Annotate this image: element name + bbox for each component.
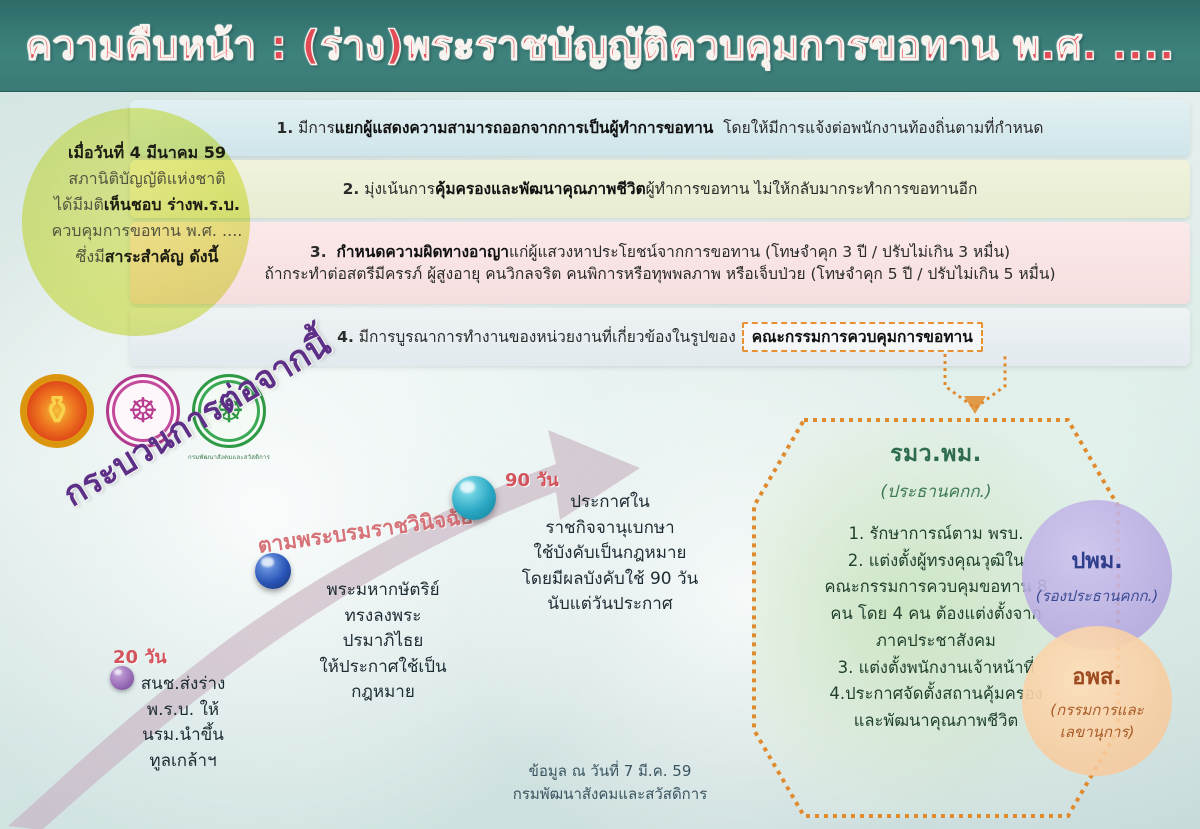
point-3-post: แก่ผู้แสวงหาประโยชน์จากการขอทาน (โทษจำคุ…	[509, 243, 1010, 261]
point-1-bold: แยกผู้แสดงความสามารถออกจากการเป็นผู้ทำกา…	[335, 119, 714, 137]
point-band-1: 1. มีการแยกผู้แสดงความสามารถออกจากการเป็…	[130, 100, 1190, 156]
step3-line5: นับแต่วันประกาศ	[500, 592, 720, 618]
step1-line4: ทูลเกล้าฯ	[98, 749, 268, 775]
timeline-node-3	[452, 476, 496, 520]
summary-line-4: ควบคุมการขอทาน พ.ศ. ....	[22, 218, 272, 244]
page-title: ความคืบหน้า : (ร่าง)พระราชบัญญัติควบคุมก…	[25, 26, 1174, 66]
header-banner: ความคืบหน้า : (ร่าง)พระราชบัญญัติควบคุมก…	[0, 0, 1200, 92]
point-2-line: 2. มุ่งเน้นการคุ้มครองและพัฒนาคุณภาพชีวิ…	[146, 178, 1174, 200]
point-3-line-2: ถ้ากระทำต่อสตรีมีครรภ์ ผู้สูงอายุ คนวิกล…	[146, 263, 1174, 285]
committee-highlight-box: คณะกรรมการควบคุมการขอทาน	[742, 322, 983, 352]
source-footnote: ข้อมูล ณ วันที่ 7 มี.ค. 59 กรมพัฒนาสังคม…	[440, 760, 780, 807]
committee-panel-title: รมว.พม.	[770, 436, 1102, 472]
point-3-line: 3. กำหนดความผิดทางอาญาแก่ผู้แสวงหาประโยช…	[146, 241, 1174, 263]
point-band-2: 2. มุ่งเน้นการคุ้มครองและพัฒนาคุณภาพชีวิ…	[130, 160, 1190, 218]
infographic-root: ความคืบหน้า : (ร่าง)พระราชบัญญัติควบคุมก…	[0, 0, 1200, 829]
timeline-badge-20-days: 20 วัน	[113, 642, 167, 671]
point-3-bold: กำหนดความผิดทางอาญา	[336, 243, 509, 261]
summary-circle-text: เมื่อวันที่ 4 มีนาคม 59 สภานิติบัญญัติแห…	[22, 140, 272, 270]
step1-line2: พ.ร.บ. ให้	[98, 698, 268, 724]
point-2-post: ผู้ทำการขอทาน ไม่ให้กลับมากระทำการขอทานอ…	[646, 180, 978, 198]
footnote-date: ข้อมูล ณ วันที่ 7 มี.ค. 59	[440, 760, 780, 783]
point-2-number: 2.	[343, 180, 360, 198]
point-1-post: โดยให้มีการแจ้งต่อพนักงานท้องถิ่นตามที่ก…	[723, 119, 1043, 137]
role-circle-secretary: อพส. (กรรมการและ เลขานุการ)	[1022, 626, 1172, 776]
point-2-pre: มุ่งเน้นการ	[364, 180, 435, 198]
role-secretary-title: อพส.	[1072, 659, 1122, 694]
step2-line1: พระมหากษัตริย์	[288, 578, 478, 604]
point-4-pre: มีการบูรณาการทำงานของหน่วยงานที่เกี่ยวข้…	[359, 328, 736, 346]
timeline-node-2	[255, 553, 291, 589]
committee-panel-subtitle: (ประธานคกก.)	[770, 478, 1102, 505]
point-1-pre: มีการ	[298, 119, 335, 137]
footnote-agency: กรมพัฒนาสังคมและสวัสดิการ	[440, 783, 780, 806]
role-deputy-subtitle: (รองประธานคกก.)	[1036, 584, 1159, 608]
royal-garuda-seal-icon: ⚱	[20, 374, 94, 448]
step2-line2: ทรงลงพระ	[288, 604, 478, 630]
timeline-step-2-text: พระมหากษัตริย์ ทรงลงพระ ปรมาภิไธย ให้ประ…	[288, 578, 478, 706]
step2-line4: ให้ประกาศใช้เป็น	[288, 655, 478, 681]
summary-line-1: เมื่อวันที่ 4 มีนาคม 59	[22, 140, 272, 166]
role-deputy-title: ปพม.	[1071, 543, 1122, 578]
timeline-step-3-text: ประกาศใน ราชกิจจานุเบกษา ใช้บังคับเป็นกฎ…	[500, 490, 720, 618]
summary-line-3: ได้มีมติเห็นชอบ ร่างพ.ร.บ.	[22, 192, 272, 218]
point-2-bold: คุ้มครองและพัฒนาคุณภาพชีวิต	[435, 180, 646, 198]
step3-line4: โดยมีผลบังคับใช้ 90 วัน	[500, 567, 720, 593]
role-secretary-subtitle-l2: เลขานุการ)	[1050, 721, 1143, 744]
step3-line1: ประกาศใน	[500, 490, 720, 516]
timeline-step-1-text: สนช.ส่งร่าง พ.ร.บ. ให้ นรม.นำขึ้น ทูลเกล…	[98, 672, 268, 774]
step2-line3: ปรมาภิไธย	[288, 629, 478, 655]
role-secretary-subtitle: (กรรมการและ เลขานุการ)	[1050, 699, 1143, 744]
point-3-number: 3.	[310, 243, 327, 261]
summary-line-5: ซึ่งมีสาระสำคัญ ดังนี้	[22, 244, 272, 270]
step1-line1: สนช.ส่งร่าง	[98, 672, 268, 698]
summary-line-2: สภานิติบัญญัติแห่งชาติ	[22, 166, 272, 192]
royal-decision-label: ตามพระบรมราชวินิจฉัย	[256, 500, 475, 563]
step2-line5: กฎหมาย	[288, 680, 478, 706]
role-secretary-subtitle-l1: (กรรมการและ	[1050, 699, 1143, 722]
step1-line3: นรม.นำขึ้น	[98, 723, 268, 749]
point-1-number: 1.	[277, 119, 294, 137]
step3-line2: ราชกิจจานุเบกษา	[500, 516, 720, 542]
point-1-line: 1. มีการแยกผู้แสดงความสามารถออกจากการเป็…	[146, 117, 1174, 139]
point-4-number: 4.	[337, 328, 354, 346]
step3-line3: ใช้บังคับเป็นกฎหมาย	[500, 541, 720, 567]
point-band-3: 3. กำหนดความผิดทางอาญาแก่ผู้แสวงหาประโยช…	[130, 222, 1190, 304]
